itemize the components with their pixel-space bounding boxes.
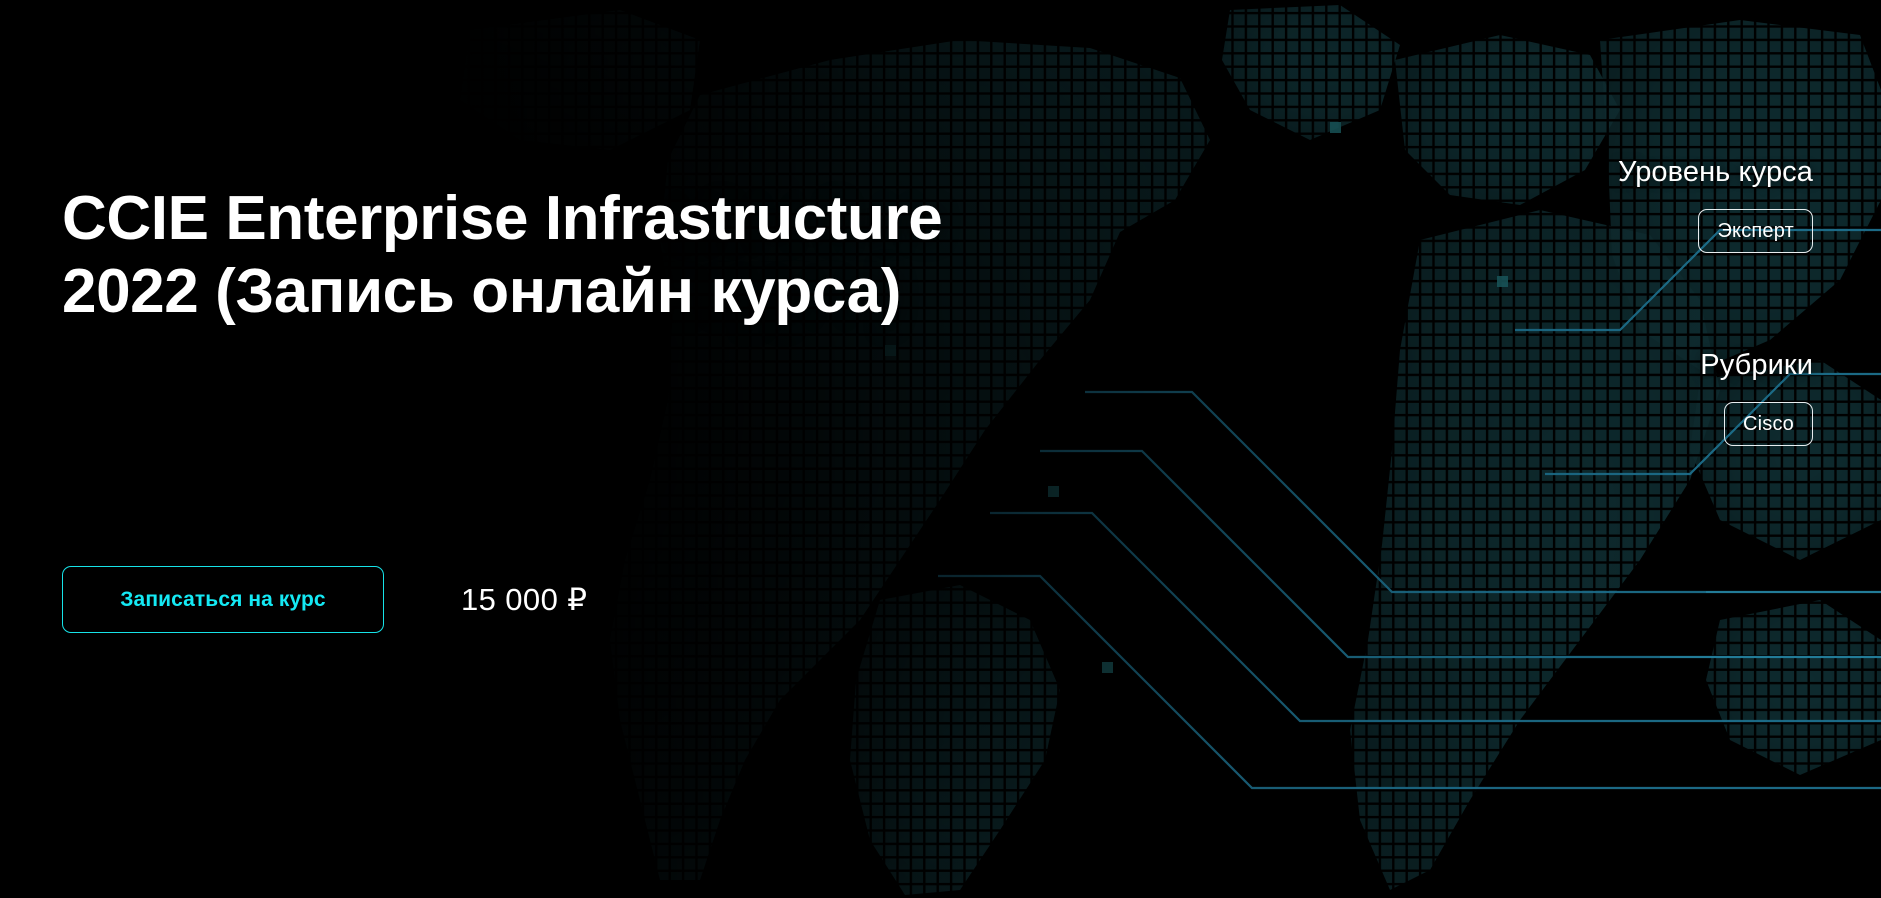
course-meta-column: Уровень курса Эксперт Рубрики Cisco <box>1453 156 1813 446</box>
hero-content: CCIE Enterprise Infrastructure 2022 (Зап… <box>0 0 1881 898</box>
course-hero-banner: CCIE Enterprise Infrastructure 2022 (Зап… <box>0 0 1881 898</box>
categories-chip-row: Cisco <box>1724 402 1813 446</box>
course-price: 15 000 ₽ <box>461 582 587 618</box>
meta-group-course-level: Уровень курса Эксперт <box>1618 156 1813 253</box>
course-level-chip-row: Эксперт <box>1698 209 1813 253</box>
course-level-chip-expert[interactable]: Эксперт <box>1698 209 1813 253</box>
category-chip-cisco[interactable]: Cisco <box>1724 402 1813 446</box>
meta-group-categories: Рубрики Cisco <box>1700 349 1813 446</box>
cta-row: Записаться на курс 15 000 ₽ <box>62 566 587 633</box>
course-level-heading: Уровень курса <box>1618 156 1813 189</box>
enroll-button[interactable]: Записаться на курс <box>62 566 384 633</box>
page-title: CCIE Enterprise Infrastructure 2022 (Зап… <box>62 182 1102 329</box>
categories-heading: Рубрики <box>1700 349 1813 382</box>
